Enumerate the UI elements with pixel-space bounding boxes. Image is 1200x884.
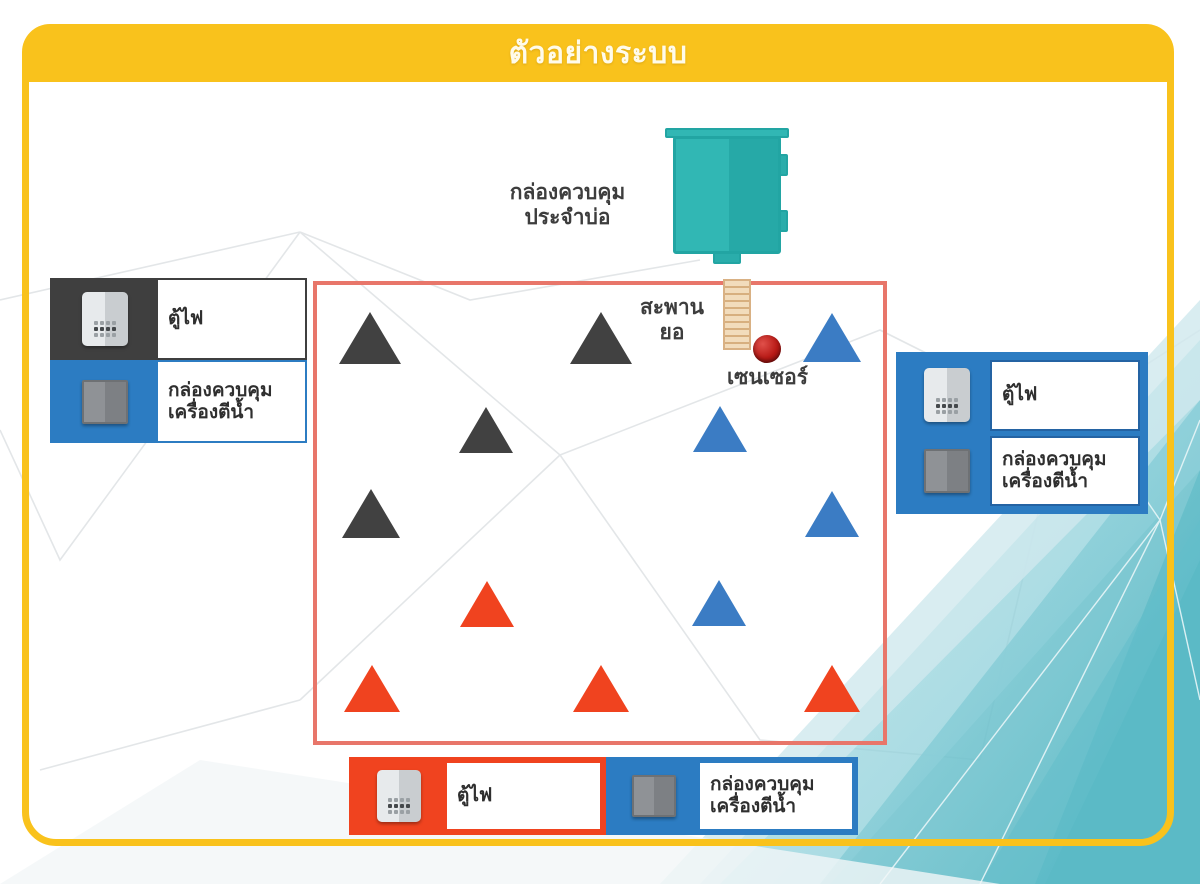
legend-row[interactable]: ตู้ไฟ xyxy=(50,278,307,360)
label-sensor: เซนเซอร์ xyxy=(710,365,825,390)
legend-label: กล่องควบคุม เครื่องตีน้ำ xyxy=(1002,449,1107,493)
control-box-hinge-bottom xyxy=(779,210,788,232)
keypad-dots xyxy=(94,321,116,337)
legend-label: กล่องควบคุม เครื่องตีน้ำ xyxy=(168,380,273,424)
electrical-cabinet-icon xyxy=(377,770,421,822)
label-bridge: สะพาน ยอ xyxy=(622,295,722,345)
pond-control-box-icon xyxy=(663,126,793,266)
aerator-marker-red-2 xyxy=(344,665,400,712)
label-control-box: กล่องควบคุม ประจำบ่อ xyxy=(480,180,655,230)
legend-text-cell: ตู้ไฟ xyxy=(990,360,1140,431)
legend-label: กล่องควบคุม เครื่องตีน้ำ xyxy=(710,774,815,818)
keypad-dots xyxy=(388,798,410,814)
legend-icon-cell xyxy=(608,759,700,833)
aerator-control-box-icon xyxy=(82,380,128,424)
aerator-marker-dark-3 xyxy=(459,407,513,453)
legend-text-cell: ตู้ไฟ xyxy=(447,763,600,829)
page-title: ตัวอย่างระบบ xyxy=(509,30,688,77)
legend-text-cell: ตู้ไฟ xyxy=(158,280,305,358)
aerator-marker-blue-3 xyxy=(805,491,859,537)
control-box-body xyxy=(673,136,781,254)
aerator-control-box-icon xyxy=(924,449,970,493)
legend-row[interactable]: กล่องควบคุม เครื่องตีน้ำ xyxy=(904,436,1140,507)
legend-label: ตู้ไฟ xyxy=(457,785,492,807)
aerator-marker-dark-1 xyxy=(339,312,401,364)
legend-row[interactable]: กล่องควบคุม เครื่องตีน้ำ xyxy=(50,360,307,443)
electrical-cabinet-icon xyxy=(82,292,128,346)
diagram-canvas: ตัวอย่างระบบ กล่องควบคุม ประจำบ่อ สะพาน … xyxy=(0,0,1200,884)
legend-row[interactable]: กล่องควบคุม เครื่องตีน้ำ xyxy=(606,757,858,835)
legend-icon-cell xyxy=(904,360,990,431)
sensor-icon xyxy=(753,335,781,363)
legend-text-cell: กล่องควบคุม เครื่องตีน้ำ xyxy=(158,362,305,441)
legend-label: ตู้ไฟ xyxy=(1002,384,1037,406)
legend-row[interactable]: ตู้ไฟ xyxy=(904,360,1140,431)
control-box-foot xyxy=(713,252,741,264)
legend-left[interactable]: ตู้ไฟ กล่องควบคุม เครื่องตีน้ำ xyxy=(50,278,307,443)
keypad-dots xyxy=(936,398,958,414)
aerator-marker-dark-4 xyxy=(342,489,400,538)
legend-icon-cell xyxy=(52,362,158,441)
aerator-control-box-icon xyxy=(632,775,676,817)
legend-text-cell: กล่องควบคุม เครื่องตีน้ำ xyxy=(700,763,852,829)
legend-icon-cell xyxy=(904,436,990,507)
control-box-hinge-top xyxy=(779,154,788,176)
aerator-marker-red-4 xyxy=(804,665,860,712)
pier-bridge-icon xyxy=(723,279,751,350)
aerator-marker-red-1 xyxy=(460,581,514,627)
aerator-marker-blue-2 xyxy=(693,406,747,452)
legend-row[interactable]: ตู้ไฟ xyxy=(349,757,606,835)
legend-icon-cell xyxy=(52,280,158,358)
page-title-bar: ตัวอย่างระบบ xyxy=(22,24,1174,82)
legend-label: ตู้ไฟ xyxy=(168,308,203,330)
aerator-marker-blue-4 xyxy=(692,580,746,626)
legend-icon-cell xyxy=(351,759,447,833)
legend-text-cell: กล่องควบคุม เครื่องตีน้ำ xyxy=(990,436,1140,507)
legend-bottom[interactable]: ตู้ไฟ กล่องควบคุม เครื่องตีน้ำ xyxy=(349,757,858,835)
aerator-marker-red-3 xyxy=(573,665,629,712)
electrical-cabinet-icon xyxy=(924,368,970,422)
aerator-marker-blue-1 xyxy=(803,313,861,362)
aerator-marker-dark-2 xyxy=(570,312,632,364)
legend-right[interactable]: ตู้ไฟ กล่องควบคุม เครื่องตีน้ำ xyxy=(896,352,1148,514)
